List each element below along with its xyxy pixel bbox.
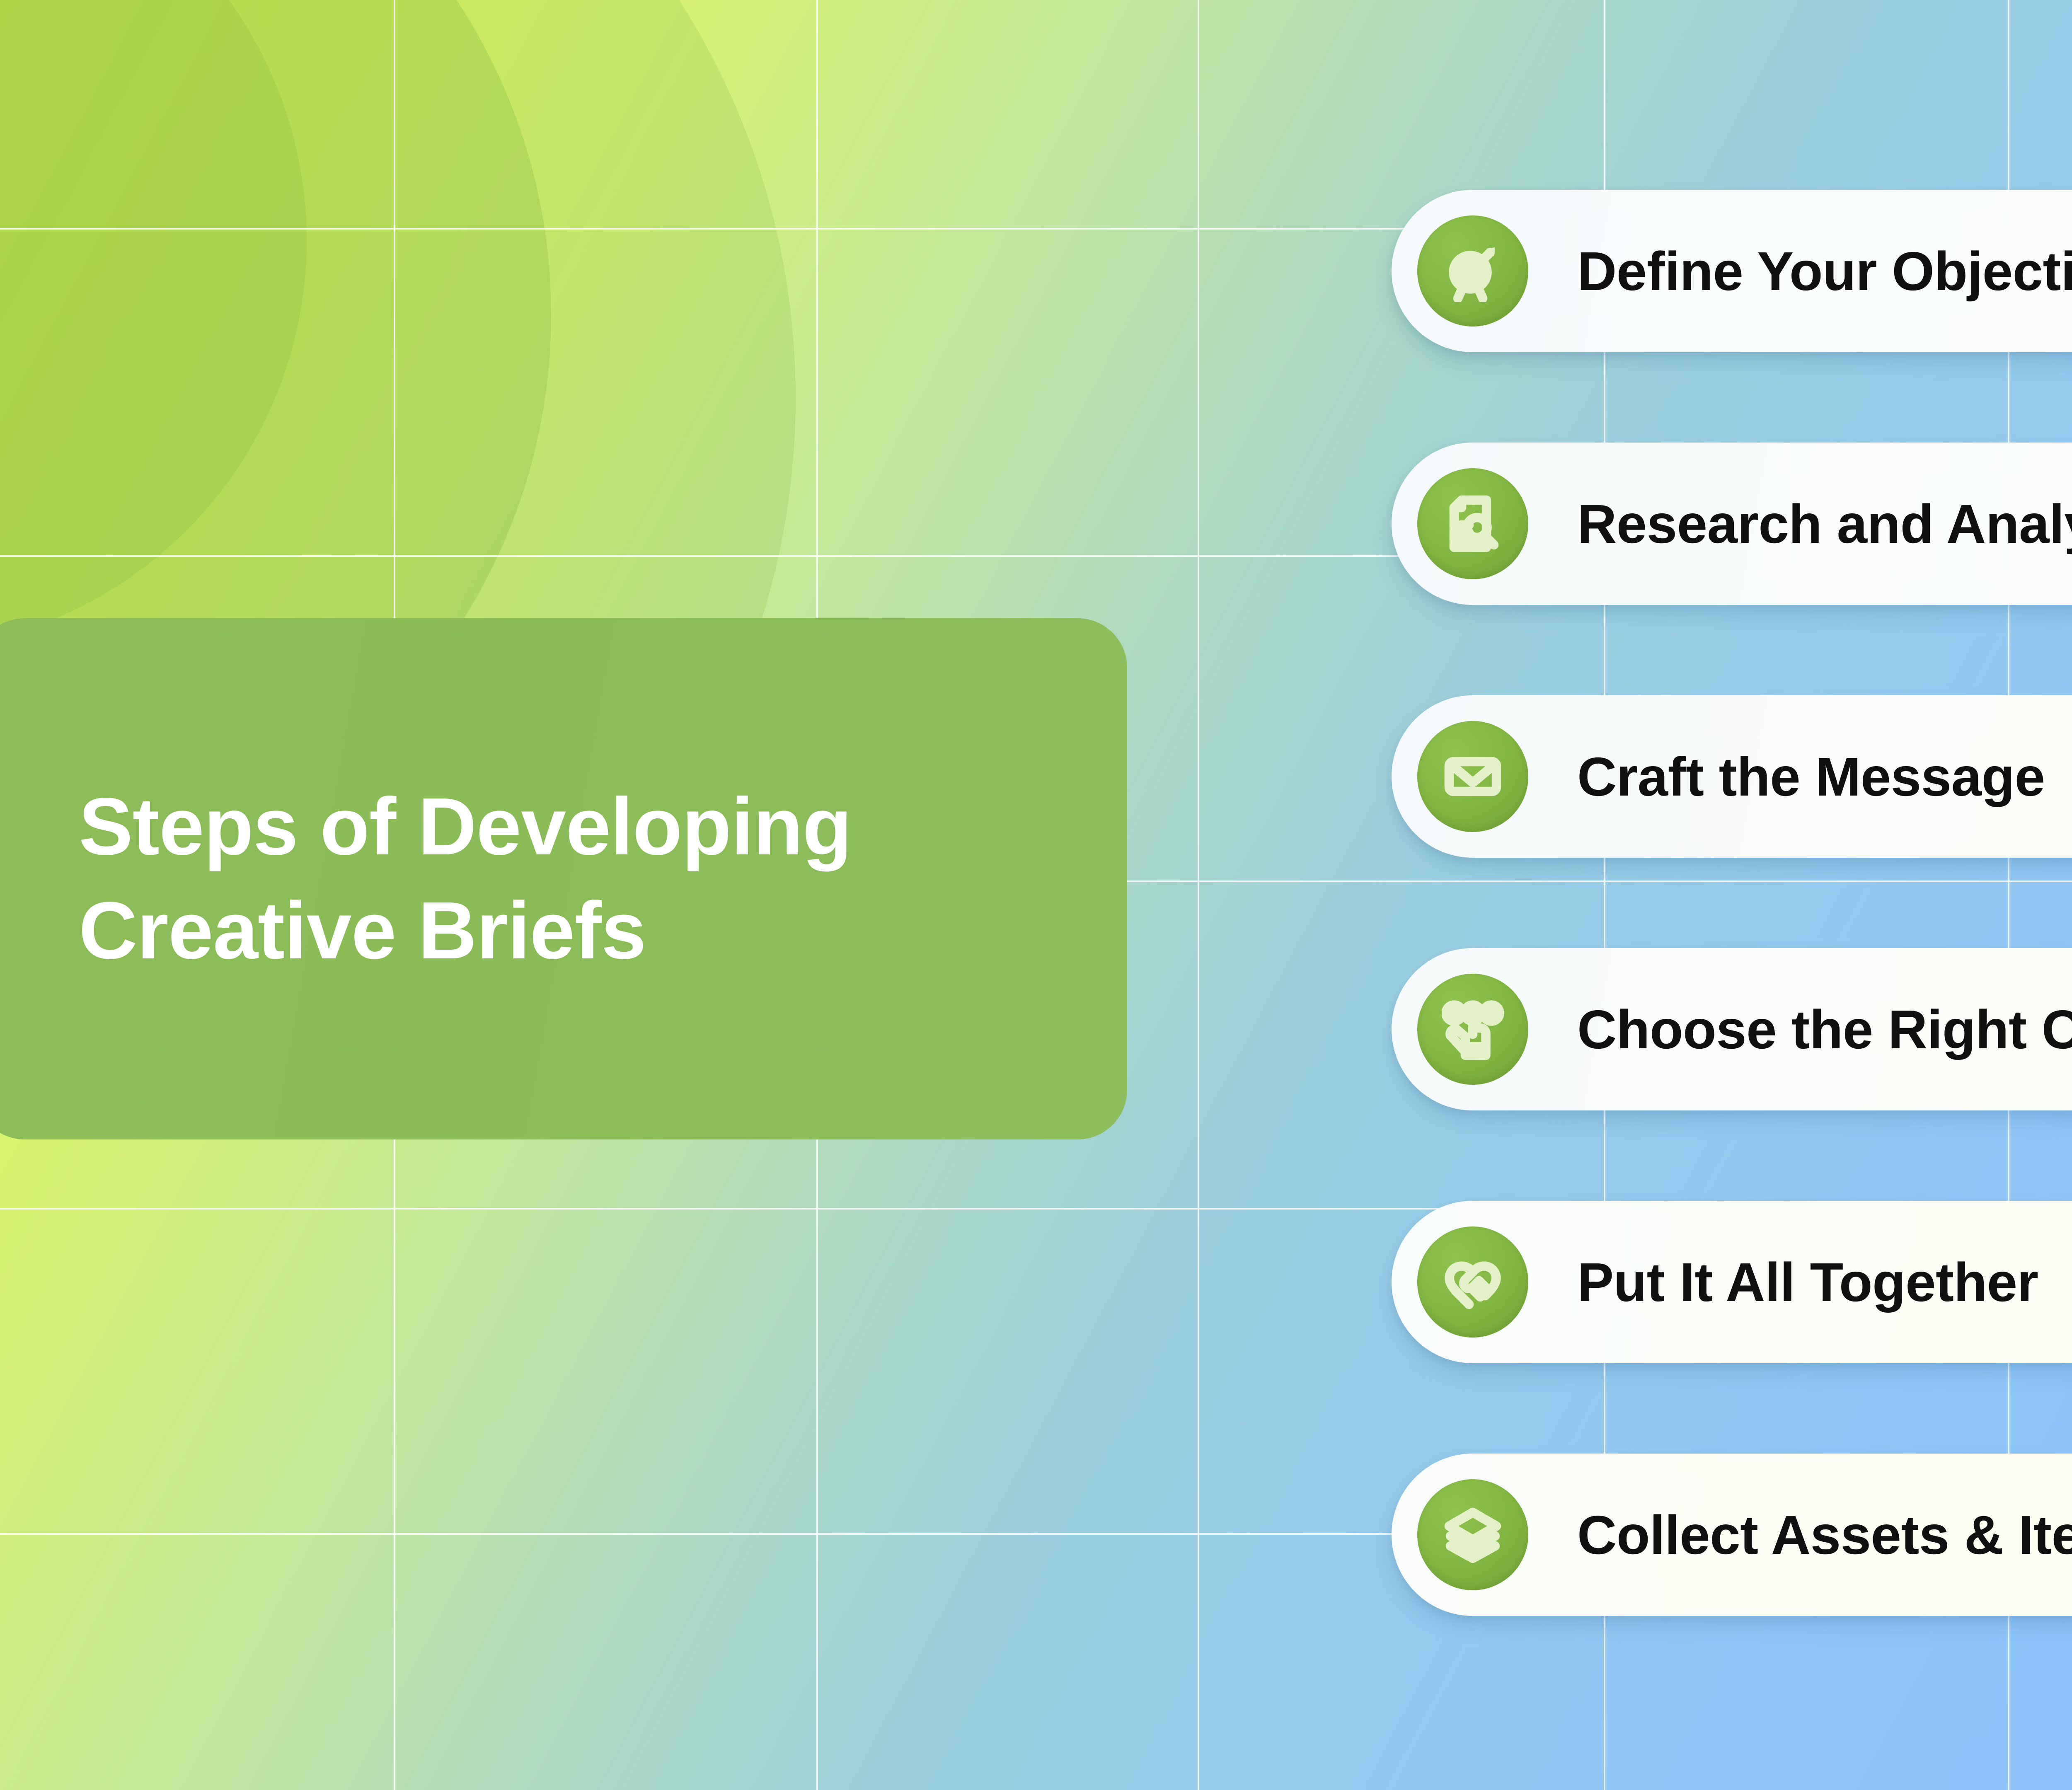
document-search-icon (1417, 468, 1528, 579)
step-card-label: Research and Analyze (1577, 493, 2072, 555)
page-title: Steps of Developing Creative Briefs (79, 775, 852, 983)
infographic-canvas: Steps of Developing Creative Briefs Defi… (0, 0, 2072, 1790)
step-card-label: Collect Assets & Iterate Fast (1577, 1504, 2072, 1566)
step-card[interactable]: Define Your Objective (1392, 190, 2072, 352)
step-card[interactable]: Choose the Right Channels (1392, 948, 2072, 1110)
step-card[interactable]: Collect Assets & Iterate Fast (1392, 1454, 2072, 1616)
layers-stack-icon (1417, 1479, 1528, 1590)
target-arrow-icon (1417, 215, 1528, 327)
envelope-icon (1417, 721, 1528, 832)
step-card-label: Craft the Message (1577, 745, 2045, 808)
step-card-label: Choose the Right Channels (1577, 998, 2072, 1061)
steps-list: Define Your ObjectiveResearch and Analyz… (1392, 190, 2072, 1616)
hand-select-option-icon (1417, 974, 1528, 1085)
step-card[interactable]: Craft the Message (1392, 695, 2072, 858)
step-card[interactable]: Research and Analyze (1392, 443, 2072, 605)
step-card-label: Put It All Together (1577, 1251, 2038, 1313)
step-card[interactable]: Put It All Together (1392, 1201, 2072, 1363)
handshake-heart-icon (1417, 1226, 1528, 1338)
step-card-label: Define Your Objective (1577, 240, 2072, 302)
title-panel: Steps of Developing Creative Briefs (0, 618, 1127, 1139)
